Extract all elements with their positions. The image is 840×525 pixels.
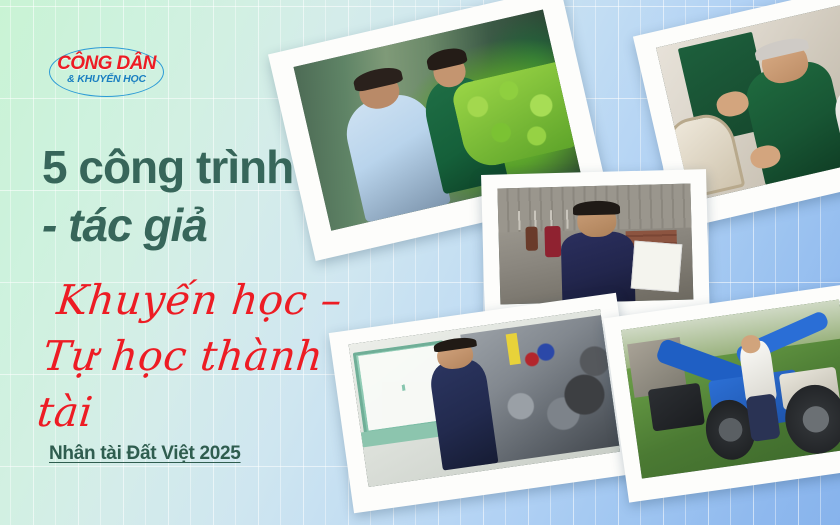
- footer-award-label: Nhân tài Đất Việt 2025: [49, 443, 241, 465]
- hanging-cloth-brown: [525, 227, 537, 250]
- person-hair: [573, 200, 620, 215]
- subtitle-line2: Tự học thành tài: [34, 328, 376, 440]
- lettuce-pile: [450, 61, 579, 171]
- hanging-cloth-red: [545, 226, 561, 257]
- logo-title-line2: & KHUYẾN HỌC: [49, 74, 164, 85]
- logo-title-line1: CÔNG DÂN: [49, 54, 164, 73]
- subtitle-line1: Khuyến học –: [46, 272, 382, 328]
- photo-background: [349, 309, 621, 487]
- photo-background: [497, 183, 693, 304]
- person-torso: [560, 231, 635, 304]
- person-legs: [746, 393, 781, 442]
- headline-line2: - tác giả: [42, 196, 372, 254]
- photo-image-area: [349, 309, 621, 487]
- held-document: [631, 241, 683, 293]
- publication-logo[interactable]: CÔNG DÂN & KHUYẾN HỌC: [49, 47, 164, 97]
- poster-canvas: CÔNG DÂN & KHUYẾN HỌC 5 công trình - tác…: [0, 0, 840, 525]
- page-subtitle: Khuyến học – Tự học thành tài: [34, 272, 382, 440]
- photo-image-area: [497, 183, 693, 304]
- excavator-bucket: [647, 383, 705, 432]
- photo-image-area: [621, 299, 840, 478]
- page-headline: 5 công trình - tác giả: [42, 138, 372, 254]
- headline-line1: 5 công trình: [42, 138, 372, 196]
- photo-man-on-blue-tractor: [603, 283, 840, 502]
- photo-background: [621, 299, 840, 478]
